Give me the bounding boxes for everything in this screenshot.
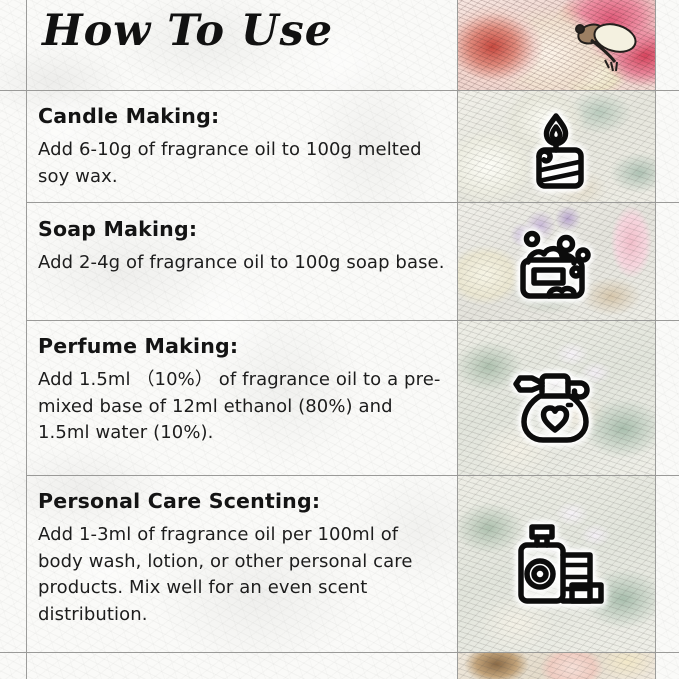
soap-bar-icon: [457, 224, 655, 306]
section-heading: Personal Care Scenting:: [38, 489, 448, 513]
lotion-bottles-icon: [457, 516, 655, 608]
section-personal-care-scenting: Personal Care Scenting: Add 1-3ml of fra…: [38, 489, 448, 629]
section-heading: Candle Making:: [38, 104, 448, 128]
section-heading: Soap Making:: [38, 217, 448, 241]
perfume-bottle-icon: [457, 356, 655, 448]
section-body: Add 2-4g of fragrance oil to 100g soap b…: [38, 250, 448, 277]
art-band-roses-bee: [457, 0, 655, 90]
vertical-rule-art-right: [655, 0, 656, 679]
text-column: How To Use Candle Making: Add 6-10g of f…: [0, 0, 457, 679]
art-band-book-and-roses: [457, 652, 655, 679]
section-body: Add 1-3ml of fragrance oil per 100ml of …: [38, 522, 448, 629]
art-line-texture: [457, 652, 655, 679]
section-heading: Perfume Making:: [38, 334, 448, 358]
bee-illustration: [561, 10, 639, 76]
section-soap-making: Soap Making: Add 2-4g of fragrance oil t…: [38, 217, 448, 277]
candle-icon: [457, 108, 655, 192]
vertical-rule-art-left: [457, 0, 458, 679]
how-to-use-poster: How To Use Candle Making: Add 6-10g of f…: [0, 0, 679, 679]
page-title: How To Use: [42, 8, 333, 55]
section-perfume-making: Perfume Making: Add 1.5ml （10%） of fragr…: [38, 334, 448, 447]
section-body: Add 6-10g of fragrance oil to 100g melte…: [38, 137, 448, 190]
section-candle-making: Candle Making: Add 6-10g of fragrance oi…: [38, 104, 448, 190]
section-body: Add 1.5ml （10%） of fragrance oil to a pr…: [38, 367, 448, 447]
